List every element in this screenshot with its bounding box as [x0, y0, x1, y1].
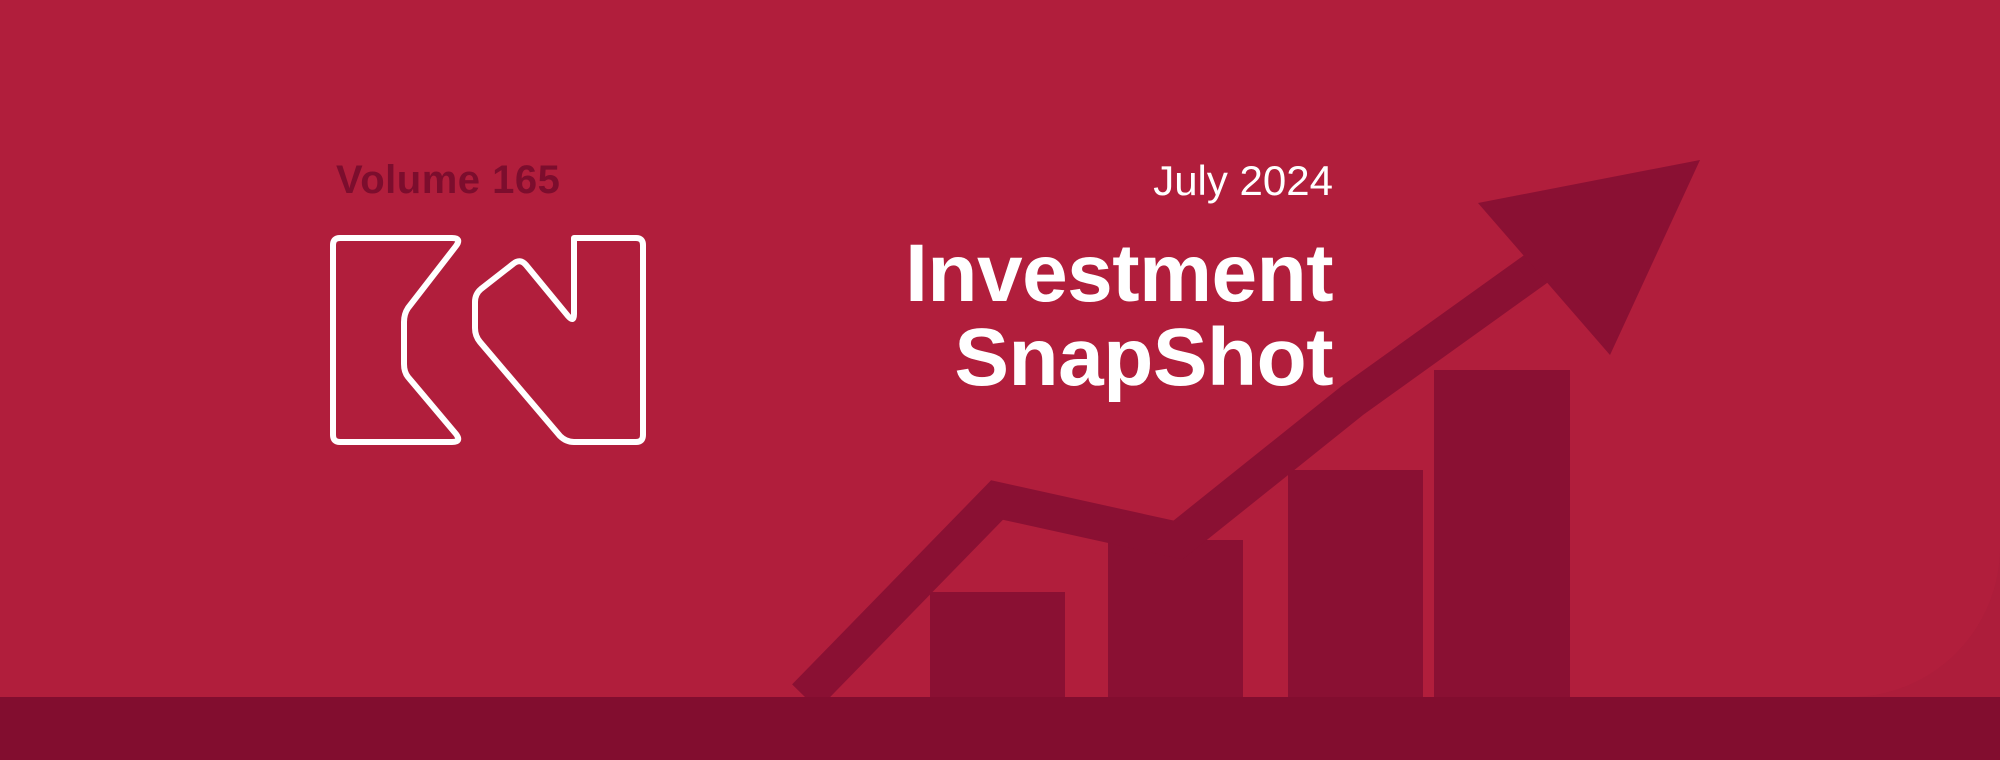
growth-graphic-svg — [0, 0, 2000, 697]
chart-bar-4 — [1434, 370, 1570, 697]
chart-bar-1 — [930, 592, 1065, 697]
investment-snapshot-banner: Volume 165 July 2024 Investment SnapShot — [0, 0, 2000, 760]
banner-panel: Volume 165 July 2024 Investment SnapShot — [0, 0, 2000, 697]
growth-arrow-bar-chart-graphic — [0, 0, 2000, 697]
footer-bar — [0, 697, 2000, 760]
chart-bar-3 — [1288, 470, 1423, 697]
